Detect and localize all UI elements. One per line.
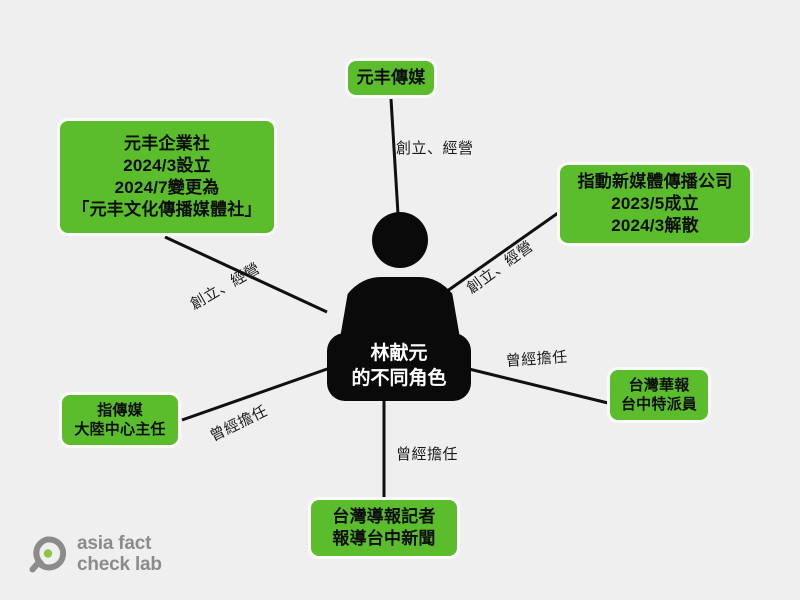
- logo-line-2: check lab: [77, 554, 162, 575]
- node-yuanfeng-enterprise-line-2: 2024/3設立: [123, 155, 211, 177]
- node-zhi-media-line-2: 大陸中心主任: [74, 420, 165, 440]
- node-yuanfeng-enterprise-line-4: 「元丰文化傳播媒體社」: [72, 199, 261, 221]
- node-zhidong-company-line-2: 2023/5成立: [611, 193, 699, 215]
- edge-label-right: 曾經擔任: [505, 346, 568, 371]
- edge-label-bottom: 曾經擔任: [396, 443, 458, 464]
- node-zhidong-company[interactable]: 指動新媒體傳播公司 2023/5成立 2024/3解散: [557, 162, 753, 246]
- node-zhi-media[interactable]: 指傳媒 大陸中心主任: [59, 392, 181, 448]
- node-taiwan-daobao-line-2: 報導台中新聞: [332, 528, 435, 550]
- node-taiwan-daobao-line-1: 台灣導報記者: [332, 506, 435, 528]
- edge-center-to-taiwan-huabao: [469, 369, 608, 403]
- center-node-line-2: 的不同角色: [351, 367, 446, 392]
- node-yuanfeng-enterprise-line-1: 元丰企業社: [124, 133, 210, 155]
- magnifier-icon: [28, 534, 68, 574]
- node-taiwan-huabao-line-1: 台灣華報: [629, 376, 690, 396]
- edge-label-top: 創立、經營: [396, 137, 474, 158]
- center-node-line-1: 林献元: [370, 342, 427, 367]
- node-yuanfeng-enterprise[interactable]: 元丰企業社 2024/3設立 2024/7變更為 「元丰文化傳播媒體社」: [57, 118, 277, 236]
- center-node[interactable]: 林献元 的不同角色: [327, 333, 471, 401]
- node-yuanfeng-media[interactable]: 元丰傳媒: [345, 58, 437, 98]
- node-zhidong-company-line-1: 指動新媒體傳播公司: [578, 171, 733, 193]
- node-zhi-media-line-1: 指傳媒: [97, 401, 143, 421]
- node-taiwan-huabao-line-2: 台中特派員: [621, 395, 697, 415]
- diagram-canvas: 元丰傳媒 元丰企業社 2024/3設立 2024/7變更為 「元丰文化傳播媒體社…: [0, 0, 800, 600]
- logo-line-1: asia fact: [77, 533, 162, 554]
- node-taiwan-daobao[interactable]: 台灣導報記者 報導台中新聞: [308, 497, 460, 559]
- node-yuanfeng-enterprise-line-3: 2024/7變更為: [115, 177, 220, 199]
- node-taiwan-huabao[interactable]: 台灣華報 台中特派員: [607, 367, 711, 423]
- asia-fact-check-lab-logo: asia fact check lab: [28, 533, 162, 576]
- node-zhidong-company-line-3: 2024/3解散: [611, 215, 699, 237]
- logo-wordmark: asia fact check lab: [77, 533, 162, 576]
- person-head-icon: [372, 212, 428, 268]
- node-yuanfeng-media-line-1: 元丰傳媒: [357, 67, 426, 89]
